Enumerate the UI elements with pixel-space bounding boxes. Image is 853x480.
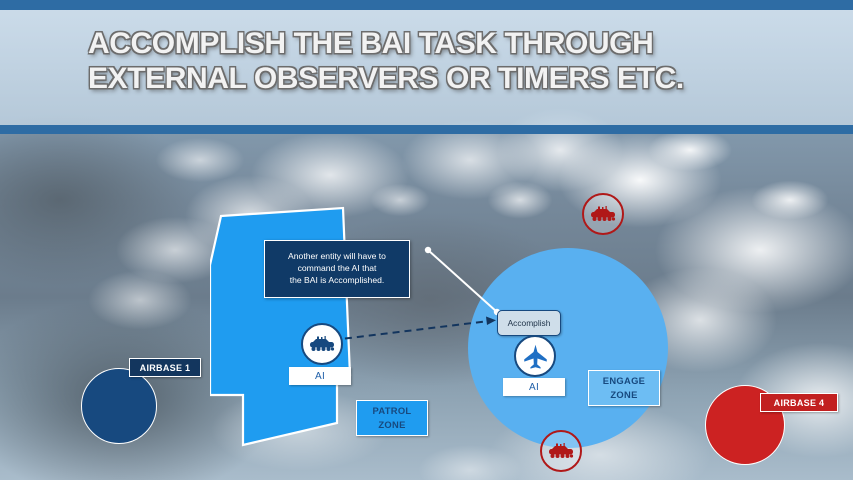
page-title-line-1: ACCOMPLISH THE BAI TASK THROUGH [88, 26, 788, 61]
patrol-zone-label[interactable]: PATROL ZONE [356, 400, 428, 436]
enemy-unit-north-icon[interactable] [582, 193, 624, 235]
header-top-strip [0, 0, 853, 10]
airbase-4-label[interactable]: AIRBASE 4 [760, 393, 838, 412]
accomplish-badge[interactable]: Accomplish [497, 310, 561, 336]
patrol-ai-label[interactable]: AI [289, 367, 351, 385]
armored-vehicle-icon [309, 336, 335, 352]
engage-zone-shape[interactable] [468, 248, 668, 448]
callout-textbox[interactable]: Another entity will have to command the … [264, 240, 410, 298]
patrol-zone-label-line-1: PATROL [373, 404, 412, 418]
engage-ai-unit-icon[interactable] [514, 335, 556, 377]
airbase-1-marker[interactable] [81, 368, 157, 444]
page-title-line-2: EXTERNAL OBSERVERS OR TIMERS ETC. [88, 61, 788, 96]
engage-ai-label[interactable]: AI [503, 378, 565, 396]
patrol-ai-unit-icon[interactable] [301, 323, 343, 365]
airbase-1-label[interactable]: AIRBASE 1 [129, 358, 201, 377]
slide-canvas: ACCOMPLISH THE BAI TASK THROUGH EXTERNAL… [0, 0, 853, 480]
callout-line-1: Another entity will have to [273, 250, 401, 262]
fighter-jet-icon [522, 343, 549, 370]
patrol-zone-label-line-2: ZONE [378, 418, 405, 432]
callout-line-2: command the AI that [273, 262, 401, 274]
callout-line-3: the BAI is Accomplished. [273, 274, 401, 286]
engage-zone-label-line-1: ENGAGE [603, 374, 645, 388]
enemy-unit-south-icon[interactable] [540, 430, 582, 472]
page-title: ACCOMPLISH THE BAI TASK THROUGH EXTERNAL… [88, 26, 788, 97]
header-bottom-strip [0, 125, 853, 134]
enemy-armored-vehicle-icon [590, 206, 616, 222]
engage-zone-label-line-2: ZONE [610, 388, 637, 402]
engage-zone-label[interactable]: ENGAGE ZONE [588, 370, 660, 406]
enemy-armored-vehicle-icon [548, 443, 574, 459]
